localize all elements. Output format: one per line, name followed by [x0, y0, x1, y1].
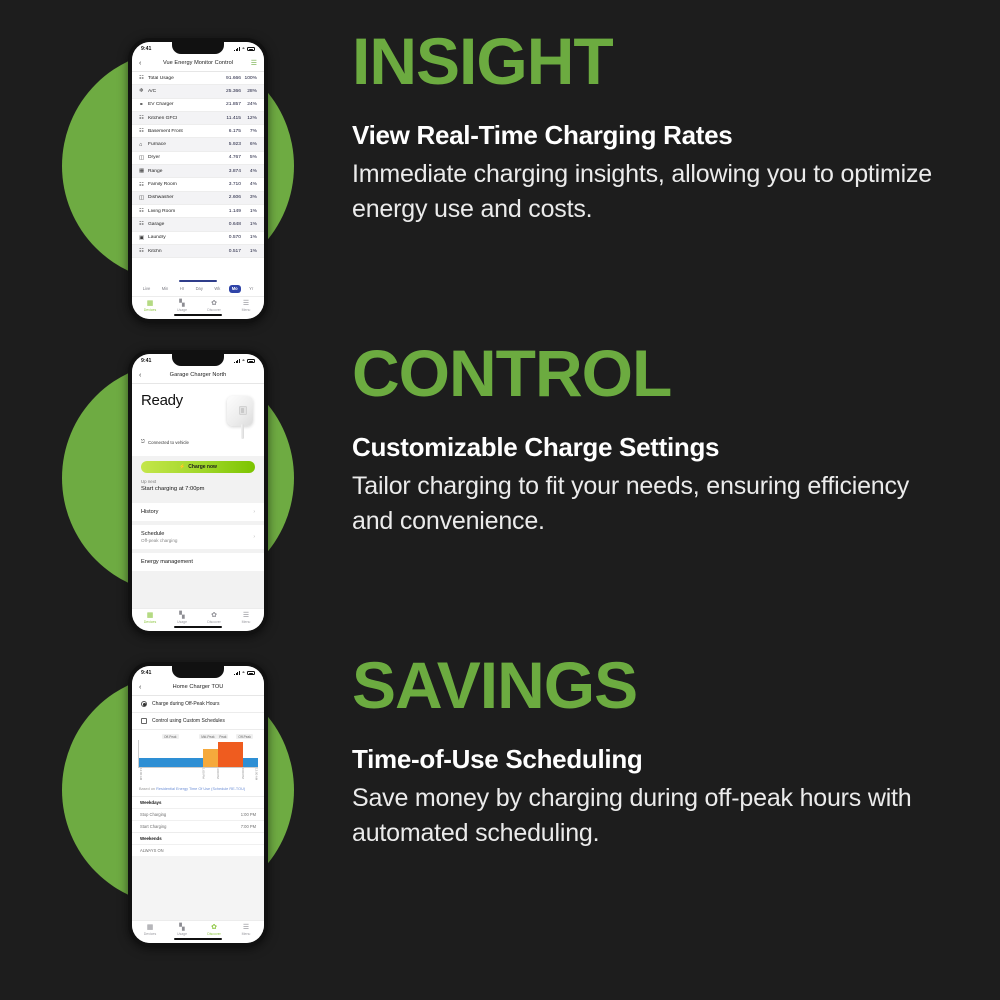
sub-heading: Time-of-Use Scheduling — [352, 744, 952, 775]
row-label: Dryer — [148, 155, 221, 160]
usage-icon: ▚ — [179, 924, 184, 931]
wifi-icon: ◓ — [242, 47, 245, 51]
tab-menu[interactable]: ☰Menu — [230, 300, 262, 312]
period-min[interactable]: Min — [159, 285, 172, 293]
table-row[interactable]: ☷Living Room1.1491% — [132, 205, 264, 218]
text-column-control: CONTROL Customizable Charge Settings Tai… — [352, 340, 952, 538]
laundry-icon: ▣ — [139, 235, 148, 241]
row-label: Laundry — [148, 235, 221, 240]
row-percent: 28% — [241, 89, 257, 94]
row-value: 3.874 — [221, 169, 241, 174]
list-item-schedule[interactable]: Schedule Off-peak charging › — [132, 525, 264, 550]
section-savings: 9:41 ◓ ‹ Home Charger TOU Charge during … — [0, 652, 1000, 964]
xtick-2: 4:00 PM — [216, 768, 220, 779]
row-percent: 1% — [241, 249, 257, 254]
row-percent: 1% — [241, 222, 257, 227]
period-day[interactable]: Day — [193, 285, 206, 293]
row-label: A/C — [148, 89, 221, 94]
row-label: Basement Front — [148, 129, 221, 134]
bar-off-peak-1 — [139, 758, 203, 767]
legend-off-peak-1: Off-Peak — [162, 734, 179, 739]
tab-discover[interactable]: ✿Discover — [198, 300, 230, 312]
schedule-row-start-charging[interactable]: Start Charging 7:00 PM — [132, 820, 264, 832]
period-live[interactable]: Live — [140, 285, 154, 293]
period-hr[interactable]: Hr — [177, 285, 187, 293]
connected-label: Connected to vehicle — [148, 440, 189, 445]
schedule-row-always-on[interactable]: ALWAYS ON — [132, 844, 264, 856]
battery-icon — [247, 47, 255, 51]
phone-screen: 9:41 ◓ ‹ Vue Energy Monitor Control ☰ ☷T… — [132, 42, 264, 319]
tab-label: Devices — [144, 620, 156, 624]
back-chevron-icon[interactable]: ‹ — [139, 372, 141, 379]
tab-usage[interactable]: ▚Usage — [166, 924, 198, 936]
kicker-heading: INSIGHT — [352, 28, 952, 94]
table-row[interactable]: ▣Laundry0.5701% — [132, 232, 264, 245]
text-column-insight: INSIGHT View Real-Time Charging Rates Im… — [352, 28, 952, 226]
tab-menu[interactable]: ☰Menu — [230, 612, 262, 624]
row-percent: 1% — [241, 209, 257, 214]
tab-devices[interactable]: ▦Devices — [134, 924, 166, 936]
phone-notch — [172, 666, 224, 678]
row-percent: 12% — [241, 116, 257, 121]
row-label: Kitchen GFCI — [148, 116, 221, 121]
table-row[interactable]: ☷Kitchn0.5171% — [132, 245, 264, 258]
phone-mockup-control: 9:41 ◓ ‹ Garage Charger North Ready — [128, 350, 268, 635]
table-row[interactable]: ▦Range3.8744% — [132, 165, 264, 178]
usage-icon: ▚ — [179, 612, 184, 619]
row-value: 3.710 — [221, 182, 241, 187]
charge-now-wrapper: ⚡ Charge now — [132, 456, 264, 479]
row-value: 0.570 — [221, 235, 241, 240]
row-label: Dishwasher — [148, 195, 221, 200]
back-chevron-icon[interactable]: ‹ — [139, 684, 141, 691]
tab-discover[interactable]: ✿Discover — [198, 924, 230, 936]
phone-screen: 9:41 ◓ ‹ Home Charger TOU Charge during … — [132, 666, 264, 943]
charge-now-label: Charge now — [188, 464, 217, 470]
row-value: 0.517 — [221, 249, 241, 254]
filter-icon[interactable]: ☰ — [251, 60, 257, 67]
row-value: 2.606 — [221, 195, 241, 200]
kicker-heading: SAVINGS — [352, 652, 952, 718]
row-value: 11.415 — [221, 116, 241, 121]
row-percent: 7% — [241, 129, 257, 134]
row-value: 4.767 — [221, 155, 241, 160]
status-indicators: ◓ — [234, 47, 255, 51]
row-label: Garage — [148, 222, 221, 227]
charge-now-button[interactable]: ⚡ Charge now — [141, 461, 255, 473]
legend-mid-peak: Mid-Peak — [199, 734, 216, 739]
page-title: Home Charger TOU — [173, 684, 224, 690]
discover-icon: ✿ — [211, 300, 217, 307]
section-insight: 9:41 ◓ ‹ Vue Energy Monitor Control ☰ ☷T… — [0, 28, 1000, 340]
tab-devices[interactable]: ▦Devices — [134, 612, 166, 624]
nav-bar: ‹ Home Charger TOU — [132, 680, 264, 696]
row-value: 91.666 — [221, 76, 241, 81]
outlet-icon: ☷ — [139, 248, 148, 254]
tab-usage[interactable]: ▚Usage — [166, 300, 198, 312]
row-label: Furnace — [148, 142, 221, 147]
tab-devices[interactable]: ▦Devices — [134, 300, 166, 312]
home-usage-icon: ☷ — [139, 75, 148, 81]
chevron-right-icon: › — [253, 534, 255, 540]
battery-icon — [247, 359, 255, 363]
signal-icon — [234, 359, 240, 363]
menu-icon: ☰ — [243, 300, 249, 307]
row-title: Schedule — [141, 531, 255, 537]
list-item-energy-management[interactable]: Energy management — [132, 553, 264, 571]
table-row[interactable]: ◫Dishwasher2.6063% — [132, 192, 264, 205]
option-off-peak[interactable]: Charge during Off-Peak Hours — [132, 696, 264, 713]
bolt-icon: ⚡ — [179, 464, 185, 470]
menu-icon: ☰ — [243, 612, 249, 619]
xtick-1: 1:00 PM — [202, 768, 206, 779]
usage-icon: ▚ — [179, 300, 184, 307]
range-icon: ▦ — [139, 168, 148, 174]
home-indicator — [174, 938, 222, 941]
radio-selected-icon[interactable] — [141, 701, 147, 707]
row-value: 0.648 — [221, 222, 241, 227]
dryer-icon: ◫ — [139, 155, 148, 161]
tab-label: Usage — [177, 620, 187, 624]
tab-menu[interactable]: ☰Menu — [230, 924, 262, 936]
sub-heading: Customizable Charge Settings — [352, 432, 952, 463]
ev-charger-icon: ⚭ — [139, 102, 148, 108]
tab-usage[interactable]: ▚Usage — [166, 612, 198, 624]
text-column-savings: SAVINGS Time-of-Use Scheduling Save mone… — [352, 652, 952, 850]
table-row[interactable]: ☷Total Usage91.666100% — [132, 72, 264, 85]
chevron-right-icon: › — [253, 509, 255, 515]
row-value: 5.923 — [221, 142, 241, 147]
outlet-icon: ☷ — [139, 182, 148, 188]
page-title: Vue Energy Monitor Control — [163, 60, 233, 66]
up-next-block: Up next Start charging at 7:00pm — [132, 479, 264, 499]
kicker-heading: CONTROL — [352, 340, 952, 406]
row-percent: 4% — [241, 182, 257, 187]
row-value: 25.366 — [221, 89, 241, 94]
signal-icon — [234, 47, 240, 51]
tab-label: Devices — [144, 932, 156, 936]
home-indicator — [174, 626, 222, 629]
section-control: 9:41 ◓ ‹ Garage Charger North Ready — [0, 340, 1000, 652]
bar-peak — [218, 742, 243, 767]
outlet-icon: ☷ — [139, 208, 148, 214]
tou-chart: Off-Peak Mid-Peak Peak Off-Peak 12:00 AM… — [132, 730, 264, 785]
nav-bar: ‹ Vue Energy Monitor Control ☰ — [132, 56, 264, 72]
phone-mockup-savings: 9:41 ◓ ‹ Home Charger TOU Charge during … — [128, 662, 268, 947]
tab-label: Menu — [242, 620, 251, 624]
table-row[interactable]: ⚭EV Charger21.85724% — [132, 99, 264, 112]
table-row[interactable]: ❄A/C25.36628% — [132, 85, 264, 98]
car-icon: ⎋ — [141, 439, 145, 445]
legend-peak: Peak — [217, 734, 228, 739]
period-selector[interactable]: Live Min Hr Day Wk Mo Yr — [132, 282, 264, 295]
row-label: Range — [148, 169, 221, 174]
status-indicators: ◓ — [234, 671, 255, 675]
wifi-icon: ◓ — [242, 359, 245, 363]
row-label: Living Room — [148, 209, 221, 214]
schedule-time: 1:00 PM — [241, 812, 256, 817]
row-value: 1.149 — [221, 209, 241, 214]
discover-icon: ✿ — [211, 924, 217, 931]
schedule-header-weekdays: Weekdays — [132, 796, 264, 808]
row-percent: 6% — [241, 142, 257, 147]
battery-icon — [247, 671, 255, 675]
table-row[interactable]: ◫Dryer4.7675% — [132, 152, 264, 165]
status-time: 9:41 — [141, 358, 151, 364]
charger-hero: Ready ⎋ Connected to vehicle — [132, 384, 264, 456]
list-item-history[interactable]: History › — [132, 503, 264, 521]
status-time: 9:41 — [141, 46, 151, 52]
devices-icon: ▦ — [147, 300, 154, 307]
period-yr[interactable]: Yr — [246, 285, 256, 293]
xtick-0: 12:00 AM — [139, 768, 143, 780]
status-time: 9:41 — [141, 670, 151, 676]
row-label: Family Room — [148, 182, 221, 187]
status-indicators: ◓ — [234, 359, 255, 363]
outlet-icon: ☷ — [139, 128, 148, 134]
up-next-label: Up next — [141, 479, 255, 484]
home-indicator — [174, 314, 222, 317]
option-label: Charge during Off-Peak Hours — [152, 701, 219, 707]
wifi-icon: ◓ — [242, 671, 245, 675]
schedule-row-stop-charging[interactable]: Stop Charging 1:00 PM — [132, 808, 264, 820]
bar-mid-peak — [203, 749, 217, 767]
row-percent: 24% — [241, 102, 257, 107]
schedule-label: Start Charging — [140, 824, 166, 829]
schedule-header-weekends: Weekends — [132, 832, 264, 844]
outlet-icon: ☷ — [139, 221, 148, 227]
body-paragraph: Tailor charging to fit your needs, ensur… — [352, 469, 952, 538]
charger-detail-body: Ready ⎋ Connected to vehicle ⚡ Charge no… — [132, 384, 264, 608]
row-value: 21.857 — [221, 102, 241, 107]
tab-label: Menu — [242, 308, 251, 312]
tou-body: Charge during Off-Peak Hours Control usi… — [132, 696, 264, 920]
schedule-time: 7:00 PM — [241, 824, 256, 829]
row-value: 6.175 — [221, 129, 241, 134]
discover-icon: ✿ — [211, 612, 217, 619]
tou-source-note: Based on Residential Energy Time Of Use … — [132, 785, 264, 796]
tab-label: Discover — [207, 308, 221, 312]
row-percent: 1% — [241, 235, 257, 240]
chart-plot-area — [138, 740, 258, 768]
table-row[interactable]: ☷Kitchen GFCI11.41512% — [132, 112, 264, 125]
table-row[interactable]: ☷Family Room3.7104% — [132, 178, 264, 191]
back-chevron-icon[interactable]: ‹ — [139, 60, 141, 67]
usage-list[interactable]: ☷Total Usage91.666100% ❄A/C25.36628% ⚭EV… — [132, 72, 264, 279]
furnace-icon: ⌂ — [139, 142, 148, 148]
ev-charger-image — [225, 396, 255, 440]
xtick-4: 12:00 AM — [254, 768, 258, 780]
outlet-icon: ☷ — [139, 115, 148, 121]
row-percent: 100% — [241, 76, 257, 81]
body-paragraph: Immediate charging insights, allowing yo… — [352, 157, 952, 226]
row-title: Energy management — [141, 559, 255, 565]
chart-x-axis: 12:00 AM 1:00 PM 4:00 PM 9:00 PM 12:00 A… — [138, 768, 258, 782]
phone-notch — [172, 354, 224, 366]
row-title: History — [141, 509, 255, 515]
row-label: EV Charger — [148, 102, 221, 107]
phone-notch — [172, 42, 224, 54]
schedule-label: Stop Charging — [140, 812, 166, 817]
table-row[interactable]: ☷Garage0.6481% — [132, 218, 264, 231]
row-subtitle: Off-peak charging — [141, 538, 255, 543]
sub-heading: View Real-Time Charging Rates — [352, 120, 952, 151]
table-row[interactable]: ⌂Furnace5.9236% — [132, 138, 264, 151]
period-mo[interactable]: Mo — [229, 285, 241, 293]
nav-bar: ‹ Garage Charger North — [132, 368, 264, 384]
checkbox-icon[interactable] — [141, 718, 147, 724]
note-link[interactable]: Residential Energy Time Of Use (Schedule… — [156, 787, 245, 791]
page-title: Garage Charger North — [170, 372, 227, 378]
row-label: Total Usage — [148, 76, 221, 81]
row-label: Kitchn — [148, 249, 221, 254]
schedule-label: ALWAYS ON — [140, 848, 164, 853]
up-next-value: Start charging at 7:00pm — [141, 486, 255, 492]
phone-screen: 9:41 ◓ ‹ Garage Charger North Ready — [132, 354, 264, 631]
row-percent: 3% — [241, 195, 257, 200]
legend-off-peak-2: Off-Peak — [236, 734, 253, 739]
devices-icon: ▦ — [147, 612, 154, 619]
table-row[interactable]: ☷Basement Front6.1757% — [132, 125, 264, 138]
tab-label: Menu — [242, 932, 251, 936]
snowflake-icon: ❄ — [139, 88, 148, 94]
dishwasher-icon: ◫ — [139, 195, 148, 201]
signal-icon — [234, 671, 240, 675]
tab-label: Devices — [144, 308, 156, 312]
tab-label: Usage — [177, 308, 187, 312]
period-wk[interactable]: Wk — [211, 285, 223, 293]
body-paragraph: Save money by charging during off-peak h… — [352, 781, 952, 850]
tab-label: Discover — [207, 620, 221, 624]
note-prefix: Based on — [139, 787, 156, 791]
tab-label: Discover — [207, 932, 221, 936]
phone-mockup-insight: 9:41 ◓ ‹ Vue Energy Monitor Control ☰ ☷T… — [128, 38, 268, 323]
tab-label: Usage — [177, 932, 187, 936]
menu-icon: ☰ — [243, 924, 249, 931]
bar-off-peak-2 — [243, 758, 258, 767]
row-percent: 5% — [241, 155, 257, 160]
option-label: Control using Custom Schedules — [152, 718, 225, 724]
row-percent: 4% — [241, 169, 257, 174]
option-custom-schedule[interactable]: Control using Custom Schedules — [132, 713, 264, 730]
devices-icon: ▦ — [147, 924, 154, 931]
xtick-3: 9:00 PM — [241, 768, 245, 779]
tab-discover[interactable]: ✿Discover — [198, 612, 230, 624]
